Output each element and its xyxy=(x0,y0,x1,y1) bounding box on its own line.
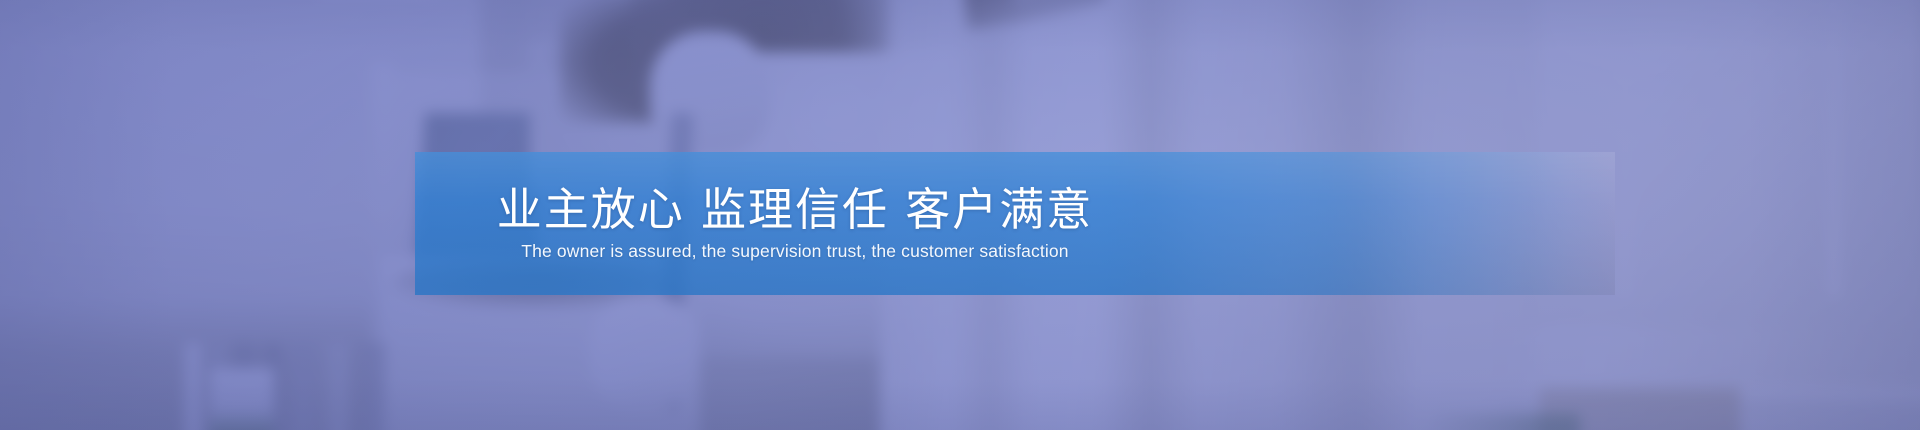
caption-band-sheen xyxy=(415,152,1615,295)
hero-banner: 业主放心 监理信任 客户满意 The owner is assured, the… xyxy=(0,0,1920,430)
caption-band xyxy=(415,152,1615,295)
